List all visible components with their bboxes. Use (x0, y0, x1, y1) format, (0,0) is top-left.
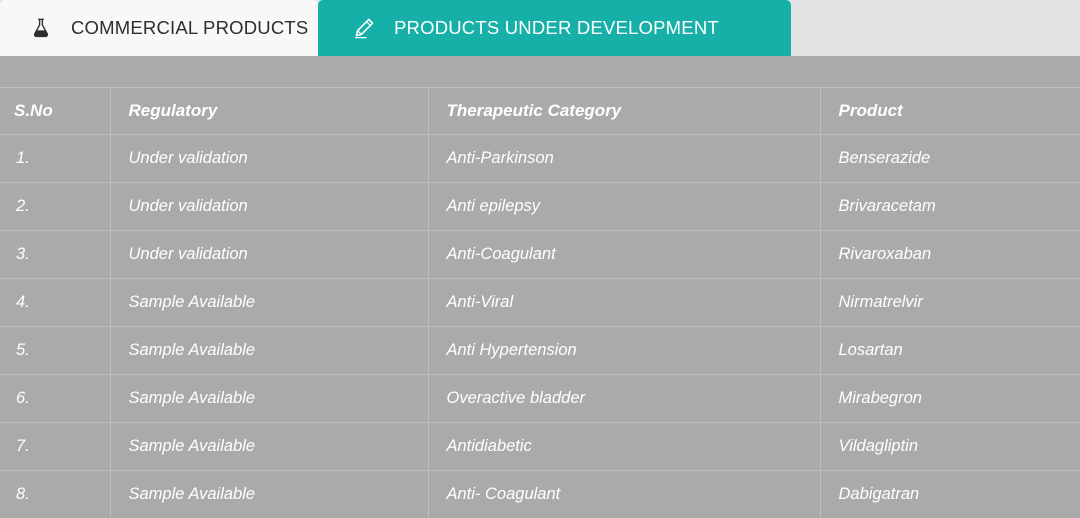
cell-category: Antidiabetic (428, 423, 820, 471)
cell-category: Anti-Coagulant (428, 231, 820, 279)
table-row: 2. Under validation Anti epilepsy Brivar… (0, 183, 1080, 231)
cell-sno: 5. (0, 327, 110, 375)
cell-sno: 3. (0, 231, 110, 279)
table-row: 3. Under validation Anti-Coagulant Rivar… (0, 231, 1080, 279)
cell-category: Anti Hypertension (428, 327, 820, 375)
table-row: 7. Sample Available Antidiabetic Vildagl… (0, 423, 1080, 471)
flask-icon (28, 15, 54, 41)
cell-regulatory: Sample Available (110, 279, 428, 327)
products-under-development-table: S.No Regulatory Therapeutic Category Pro… (0, 88, 1080, 518)
cell-regulatory: Sample Available (110, 423, 428, 471)
cell-category: Overactive bladder (428, 375, 820, 423)
table-top-strip (0, 56, 1080, 88)
cell-product: Losartan (820, 327, 1080, 375)
cell-sno: 1. (0, 135, 110, 183)
cell-product: Mirabegron (820, 375, 1080, 423)
cell-regulatory: Under validation (110, 183, 428, 231)
cell-sno: 6. (0, 375, 110, 423)
pencil-icon (351, 15, 377, 41)
cell-category: Anti-Parkinson (428, 135, 820, 183)
column-header-therapeutic-category: Therapeutic Category (428, 88, 820, 135)
cell-sno: 4. (0, 279, 110, 327)
cell-product: Benserazide (820, 135, 1080, 183)
cell-sno: 2. (0, 183, 110, 231)
cell-regulatory: Under validation (110, 231, 428, 279)
tab-products-under-development[interactable]: PRODUCTS UNDER DEVELOPMENT (318, 0, 791, 56)
column-header-regulatory: Regulatory (110, 88, 428, 135)
column-header-product: Product (820, 88, 1080, 135)
table-header: S.No Regulatory Therapeutic Category Pro… (0, 88, 1080, 135)
cell-product: Rivaroxaban (820, 231, 1080, 279)
cell-regulatory: Sample Available (110, 327, 428, 375)
table-row: 4. Sample Available Anti-Viral Nirmatrel… (0, 279, 1080, 327)
cell-product: Brivaracetam (820, 183, 1080, 231)
column-header-sno: S.No (0, 88, 110, 135)
cell-category: Anti-Viral (428, 279, 820, 327)
table-row: 5. Sample Available Anti Hypertension Lo… (0, 327, 1080, 375)
tab-bar: COMMERCIAL PRODUCTS PRODUCTS UNDER DEVEL… (0, 0, 1080, 56)
table-body: 1. Under validation Anti-Parkinson Bense… (0, 135, 1080, 518)
cell-regulatory: Under validation (110, 135, 428, 183)
table-row: 6. Sample Available Overactive bladder M… (0, 375, 1080, 423)
cell-regulatory: Sample Available (110, 375, 428, 423)
products-table-panel: S.No Regulatory Therapeutic Category Pro… (0, 56, 1080, 511)
tab-commercial-products[interactable]: COMMERCIAL PRODUCTS (0, 0, 318, 56)
cell-product: Nirmatrelvir (820, 279, 1080, 327)
table-header-row: S.No Regulatory Therapeutic Category Pro… (0, 88, 1080, 135)
table-row: 1. Under validation Anti-Parkinson Bense… (0, 135, 1080, 183)
products-page: COMMERCIAL PRODUCTS PRODUCTS UNDER DEVEL… (0, 0, 1080, 511)
tab-commercial-products-label: COMMERCIAL PRODUCTS (71, 17, 308, 39)
cell-sno: 7. (0, 423, 110, 471)
tab-products-under-development-label: PRODUCTS UNDER DEVELOPMENT (394, 17, 719, 39)
cell-category: Anti epilepsy (428, 183, 820, 231)
cell-product: Vildagliptin (820, 423, 1080, 471)
